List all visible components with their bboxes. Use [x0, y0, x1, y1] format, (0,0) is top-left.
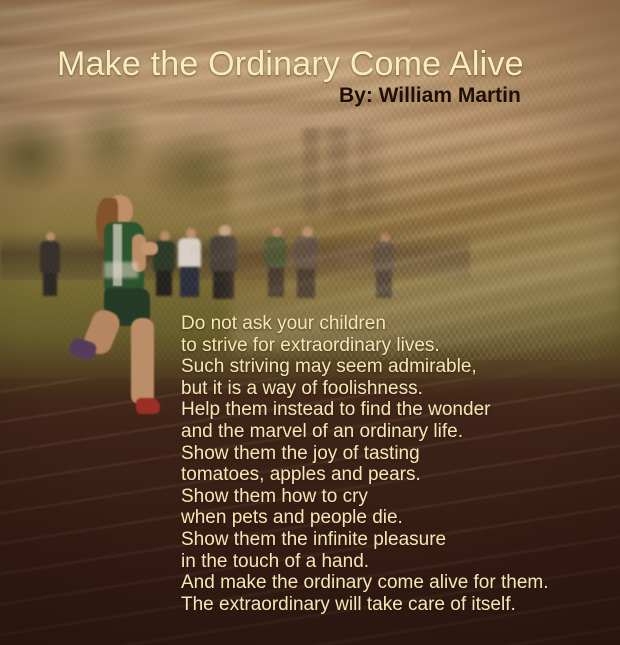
- poem-line: but it is a way of foolishness.: [181, 378, 611, 400]
- poem-line: Show them the joy of tasting: [181, 443, 611, 465]
- poem-line: And make the ordinary come alive for the…: [181, 572, 611, 594]
- poem-line: to strive for extraordinary lives.: [181, 335, 611, 357]
- poem-line: tomatoes, apples and pears.: [181, 464, 611, 486]
- poem-author: By: William Martin: [339, 83, 521, 108]
- poem-line: when pets and people die.: [181, 507, 611, 529]
- poem-line: Such striving may seem admirable,: [181, 356, 611, 378]
- poem-line: Do not ask your children: [181, 313, 611, 335]
- poem-line: Show them the infinite pleasure: [181, 529, 611, 551]
- poem-line: and the marvel of an ordinary life.: [181, 421, 611, 443]
- poem-body: Do not ask your children to strive for e…: [181, 313, 611, 615]
- poem-poster: Make the Ordinary Come Alive By: William…: [0, 0, 620, 645]
- poem-line: in the touch of a hand.: [181, 551, 611, 573]
- poem-line: Help them instead to find the wonder: [181, 399, 611, 421]
- poem-line: Show them how to cry: [181, 486, 611, 508]
- poem-title: Make the Ordinary Come Alive: [57, 45, 524, 83]
- poem-line: The extraordinary will take care of itse…: [181, 594, 611, 616]
